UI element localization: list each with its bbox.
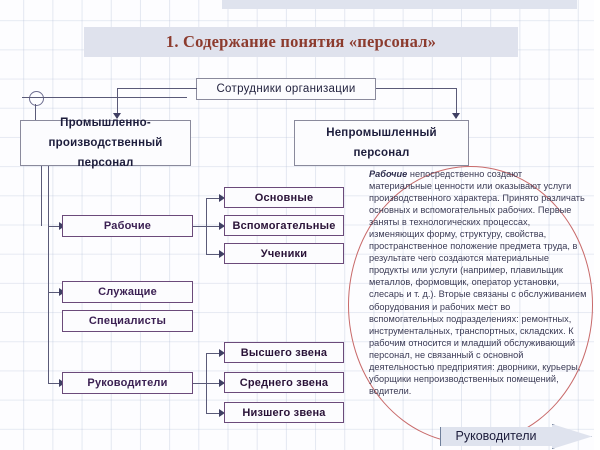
node-worker-type-apprentices-label: Ученики <box>225 248 343 260</box>
connector-workers-vertical <box>206 198 207 254</box>
arrow-banner-label: Руководители <box>440 424 552 449</box>
anchor-handle-icon <box>29 91 44 106</box>
managers-arrow-banner[interactable]: Руководители <box>440 424 592 449</box>
node-worker-type-auxiliary-label: Вспомогательные <box>225 220 343 232</box>
node-category-managers[interactable]: Руководители <box>62 372 193 394</box>
node-branch-industrial-line1: Промышленно- <box>21 113 190 133</box>
node-root-label: Сотрудники организации <box>197 83 375 95</box>
node-category-workers-label: Рабочие <box>63 220 192 232</box>
trunk-vertical-line <box>48 166 49 384</box>
node-worker-type-main-label: Основные <box>225 192 343 204</box>
node-branch-nonindustrial-line1: Непромышленный <box>295 123 468 143</box>
node-worker-type-apprentices[interactable]: Ученики <box>224 243 344 264</box>
node-manager-level-top-label: Высшего звена <box>225 347 343 359</box>
callout-paragraph: Рабочие непосредственно создают материал… <box>369 168 587 397</box>
node-manager-level-middle-label: Среднего звена <box>225 377 343 389</box>
node-branch-industrial-line2: производственный персонал <box>21 133 190 173</box>
node-category-workers[interactable]: Рабочие <box>62 215 193 237</box>
connector-managers-vertical <box>206 353 207 413</box>
node-manager-level-top[interactable]: Высшего звена <box>224 342 344 363</box>
callout-lead-term: Рабочие <box>369 169 407 179</box>
connector-root-left <box>117 88 197 89</box>
node-manager-level-middle[interactable]: Среднего звена <box>224 372 344 393</box>
callout-body-text: непосредственно создают материальные цен… <box>369 169 586 396</box>
node-category-managers-label: Руководители <box>63 377 192 389</box>
node-category-specialists-label: Специалисты <box>63 315 192 327</box>
node-branch-nonindustrial[interactable]: Непромышленный персонал <box>294 120 469 166</box>
top-decorative-strip <box>222 0 577 9</box>
trunk-secondary-line <box>41 166 42 226</box>
page-title: 1. Содержание понятия «персонал» <box>84 28 518 56</box>
connector-root-right <box>376 88 456 89</box>
node-category-employees[interactable]: Служащие <box>62 281 193 303</box>
right-margin-strip <box>594 0 600 450</box>
node-branch-industrial[interactable]: Промышленно- производственный персонал <box>20 120 191 166</box>
node-category-employees-label: Служащие <box>63 286 192 298</box>
node-worker-type-auxiliary[interactable]: Вспомогательные <box>224 215 344 236</box>
slide-canvas: 1. Содержание понятия «персонал» Сотрудн… <box>0 0 600 450</box>
node-root[interactable]: Сотрудники организации <box>196 78 376 100</box>
node-worker-type-main[interactable]: Основные <box>224 187 344 208</box>
node-branch-nonindustrial-line2: персонал <box>295 143 468 163</box>
node-manager-level-lower-label: Низшего звена <box>225 407 343 419</box>
arrow-into-branch-right-icon <box>452 113 460 119</box>
node-manager-level-lower[interactable]: Низшего звена <box>224 402 344 423</box>
node-category-specialists[interactable]: Специалисты <box>62 310 193 332</box>
anchor-guide-line <box>22 97 187 98</box>
